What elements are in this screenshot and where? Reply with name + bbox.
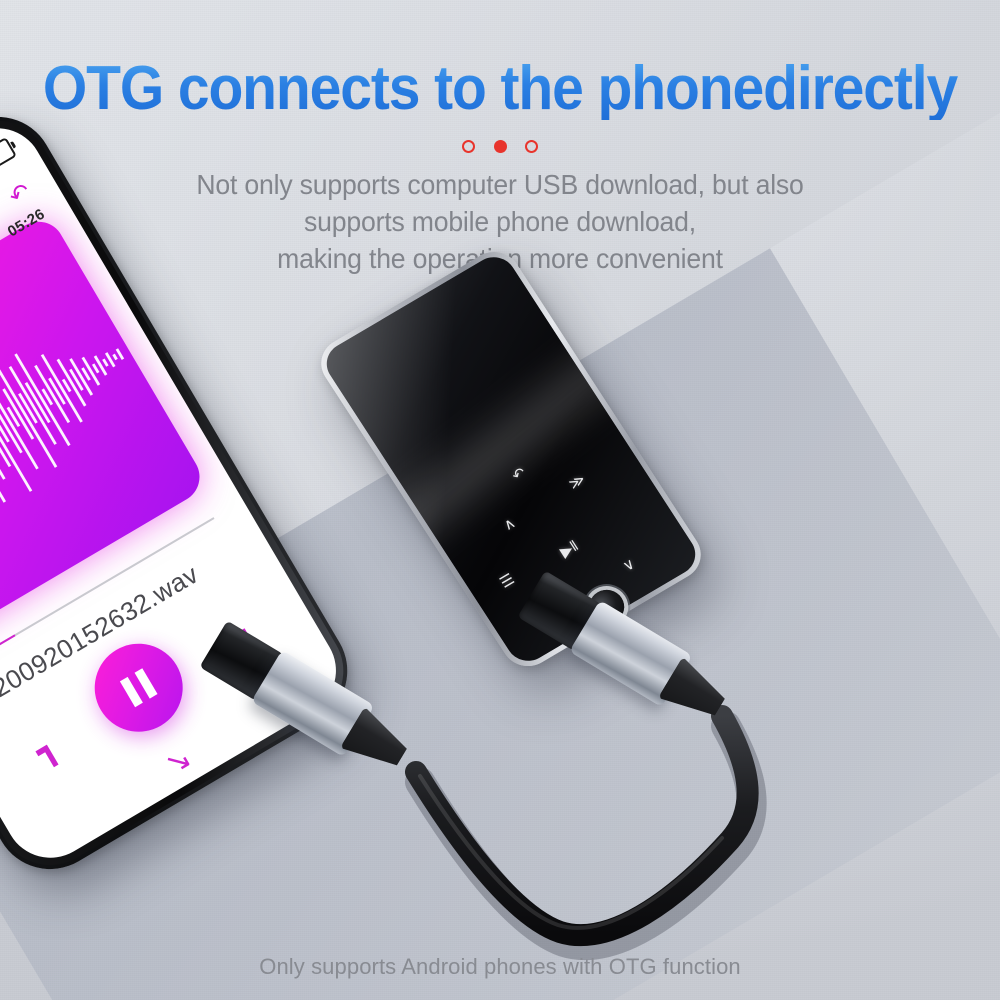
volume-down-icon[interactable]: ∨ — [620, 556, 638, 574]
product-promo-image: OTG connects to the phonedirectly Not on… — [0, 0, 1000, 1000]
progress-fill — [0, 634, 16, 652]
download-icon[interactable]: ↘ — [158, 740, 197, 783]
volume-up-icon[interactable]: ∧ — [501, 515, 519, 533]
dot-1-icon — [462, 140, 475, 153]
battery-icon — [0, 137, 17, 175]
dot-2-icon — [494, 140, 507, 153]
previous-icon[interactable]: ┓ — [27, 727, 65, 772]
compatibility-note: Only supports Android phones with OTG fu… — [0, 954, 1000, 980]
page-title: OTG connects to the phonedirectly — [40, 58, 960, 120]
play-pause-icon[interactable]: ▶‖ — [558, 538, 581, 560]
menu-list-icon[interactable]: ☰ — [497, 571, 517, 590]
dot-3-icon — [525, 140, 538, 153]
next-track-icon[interactable]: ≫ — [566, 472, 588, 493]
subtitle-line-2: supports mobile phone download, — [25, 203, 975, 240]
decorative-dots — [0, 138, 1000, 156]
subtitle-line-1: Not only supports computer USB download,… — [25, 166, 975, 203]
